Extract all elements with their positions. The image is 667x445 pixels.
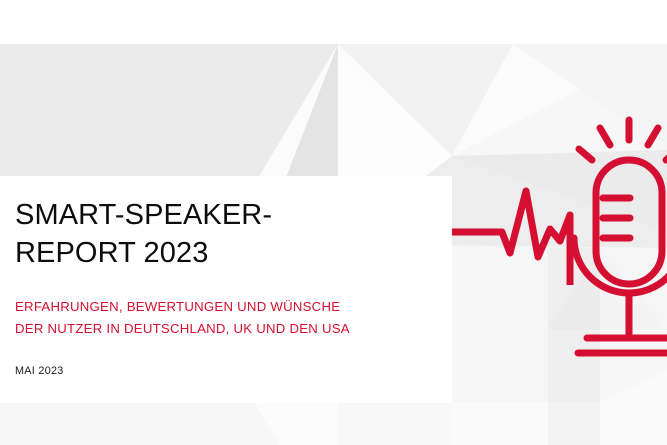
page-subtitle: ERFAHRUNGEN, BEWERTUNGEN UND WÜNSCHE DER… [15,272,438,340]
page-title: SMART-SPEAKER- REPORT 2023 [15,196,438,272]
top-white-band [0,0,667,44]
title-card: SMART-SPEAKER- REPORT 2023 ERFAHRUNGEN, … [0,176,452,403]
title-card-content: SMART-SPEAKER- REPORT 2023 ERFAHRUNGEN, … [15,196,438,378]
publication-date: MAI 2023 [15,340,438,378]
microphone-icon [440,110,667,360]
report-cover-slide: SMART-SPEAKER- REPORT 2023 ERFAHRUNGEN, … [0,0,667,445]
